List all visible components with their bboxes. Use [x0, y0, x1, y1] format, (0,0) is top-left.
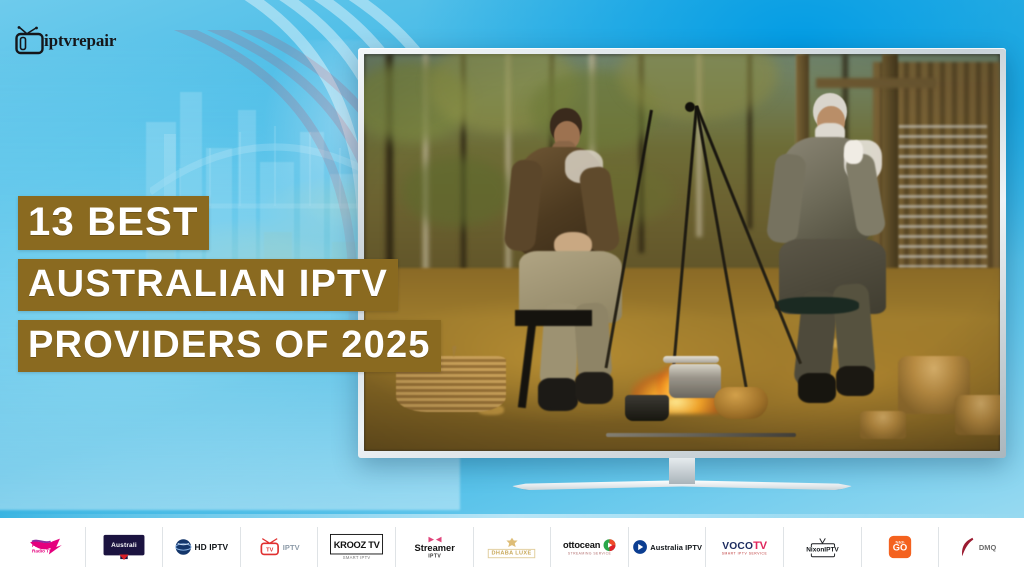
provider-cell-hd-iptv[interactable]: HD IPTV [163, 527, 241, 567]
provider-label: IPTV [282, 543, 299, 551]
headline-block: 13 BEST AUSTRALIAN IPTV PROVIDERS OF 202… [18, 196, 441, 372]
provider-cell-krooz-tv[interactable]: KROOZ TV SMART IPTV [318, 527, 396, 567]
provider-cell-ottocean[interactable]: ottocean STREAMING SERVICE [551, 527, 629, 567]
provider-cell-australia-tv[interactable]: Australi [86, 527, 164, 567]
red-swoosh-icon [959, 537, 976, 557]
provider-label: DHABA LUXE [488, 548, 536, 557]
provider-cell-chill-iptv[interactable]: TV IPTV [241, 527, 319, 567]
provider-label: HD IPTV [194, 542, 228, 551]
red-tv-icon: TV [259, 538, 279, 557]
tv-screen [364, 54, 1000, 451]
provider-cell-fetch-go[interactable]: fetch GO [862, 527, 940, 567]
globe-circle-icon [175, 539, 192, 556]
tv-frame [358, 48, 1006, 458]
headline-line-3: PROVIDERS OF 2025 [18, 320, 441, 372]
provider-cell-dmq[interactable]: DMQ [939, 527, 1016, 567]
provider-sublabel: IPTV [428, 553, 441, 559]
scene-vignette [364, 54, 1000, 451]
headline-line-1: 13 BEST [18, 196, 209, 250]
provider-label: GO [893, 544, 907, 553]
provider-label: Australi [111, 542, 137, 549]
play-circle-icon [632, 540, 647, 555]
provider-label: KROOZ TV [334, 540, 380, 550]
provider-cell-streamer-iptv[interactable]: Streamer IPTV [396, 527, 474, 567]
provider-label: DMQ [979, 543, 996, 551]
provider-cell-dhaba-luxe[interactable]: DHABA LUXE [474, 527, 552, 567]
provider-label: ottocean [563, 540, 600, 550]
provider-label: Australia IPTV [650, 543, 702, 551]
provider-cell-prime-radio-tv[interactable]: Prime Radio TV [8, 527, 86, 567]
provider-cell-nixon-iptv[interactable]: NixonIPTV [784, 527, 862, 567]
site-logo[interactable]: iptvrepair [14, 26, 116, 56]
svg-text:TV: TV [266, 548, 273, 554]
bowtie-icon [427, 535, 442, 542]
provider-label: Streamer [414, 543, 454, 553]
site-logo-text: iptvrepair [44, 31, 116, 52]
play-orb-icon [603, 539, 616, 552]
stand-arrow-icon [118, 554, 129, 561]
provider-label: NixonIPTV [804, 547, 840, 554]
campfire-scene [364, 54, 1000, 451]
gold-crest-icon [505, 536, 518, 547]
promo-banner: iptvrepair 13 BEST AUSTRALIAN IPTV PROVI… [0, 0, 1024, 576]
provider-cell-australia-iptv[interactable]: Australia IPTV [629, 527, 707, 567]
tv-stand-neck [669, 458, 695, 484]
tv-device [358, 48, 1006, 458]
headline-line-2: AUSTRALIAN IPTV [18, 259, 398, 311]
provider-cell-voco-tv[interactable]: VOCO TV SMART IPTV SERVICE [706, 527, 784, 567]
tv-icon [14, 26, 48, 56]
provider-logo-strip: Prime Radio TV Australi [0, 518, 1024, 576]
